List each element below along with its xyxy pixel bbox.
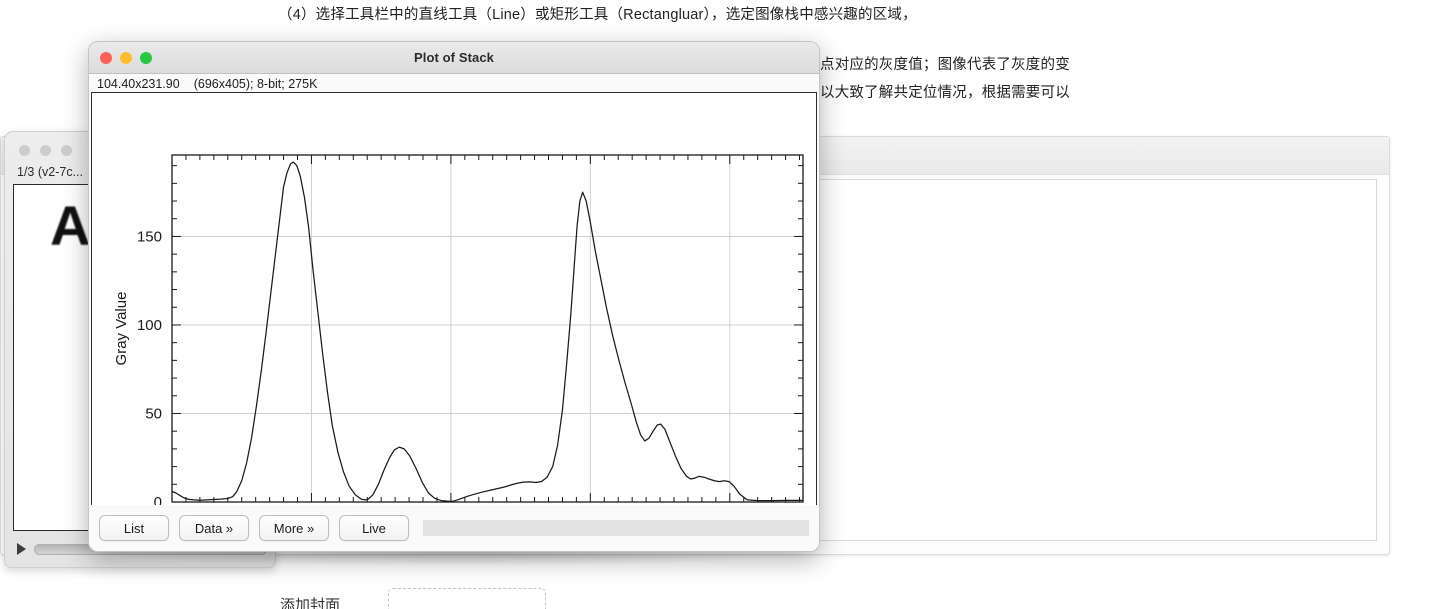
more-button[interactable]: More » <box>259 515 329 541</box>
maximize-icon[interactable] <box>61 145 72 156</box>
data-button[interactable]: Data » <box>179 515 249 541</box>
play-icon[interactable] <box>17 543 26 555</box>
svg-text:50: 50 <box>145 405 162 422</box>
svg-text:100: 100 <box>137 317 162 334</box>
document-paragraph-line-2: 点对应的灰度值；图像代表了灰度的变 <box>820 53 1070 74</box>
document-paragraph-line-3: 以大致了解共定位情况，根据需要可以 <box>820 81 1070 102</box>
minimize-icon[interactable] <box>40 145 51 156</box>
add-cover-dropzone[interactable] <box>388 588 546 609</box>
plot-button-bar: List Data » More » Live <box>89 505 819 551</box>
panel-letter-label: A <box>50 193 90 258</box>
plot-info-strip: 104.40x231.90 (696x405); 8-bit; 275K <box>89 74 819 94</box>
plot-info-dimensions: 104.40x231.90 <box>97 77 180 91</box>
image-stack-status: 1/3 (v2-7c... <box>17 165 83 179</box>
plot-info-details: (696x405); 8-bit; 275K <box>194 77 318 91</box>
list-button[interactable]: List <box>99 515 169 541</box>
svg-text:Gray Value: Gray Value <box>113 292 130 366</box>
plot-window-title: Plot of Stack <box>414 50 494 65</box>
image-stack-traffic-lights[interactable] <box>19 145 72 156</box>
live-button[interactable]: Live <box>339 515 409 541</box>
plot-window-traffic-lights[interactable] <box>100 52 152 64</box>
plot-message-field <box>423 520 809 536</box>
add-cover-label: 添加封面 <box>280 594 340 609</box>
document-paragraph-line-1: （4）选择工具栏中的直线工具（Line）或矩形工具（Rectangluar），选… <box>278 3 917 24</box>
screen-root: （4）选择工具栏中的直线工具（Line）或矩形工具（Rectangluar），选… <box>0 0 1440 609</box>
svg-text:150: 150 <box>137 228 162 245</box>
close-icon[interactable] <box>100 52 112 64</box>
maximize-icon[interactable] <box>140 52 152 64</box>
minimize-icon[interactable] <box>120 52 132 64</box>
plot-canvas[interactable]: 020406080050100150Distance (pixels)Gray … <box>91 92 817 552</box>
plot-window-titlebar[interactable]: Plot of Stack <box>89 42 819 74</box>
gray-value-profile-chart: 020406080050100150Distance (pixels)Gray … <box>92 93 817 552</box>
close-icon[interactable] <box>19 145 30 156</box>
plot-of-stack-window: Plot of Stack 104.40x231.90 (696x405); 8… <box>88 41 820 552</box>
